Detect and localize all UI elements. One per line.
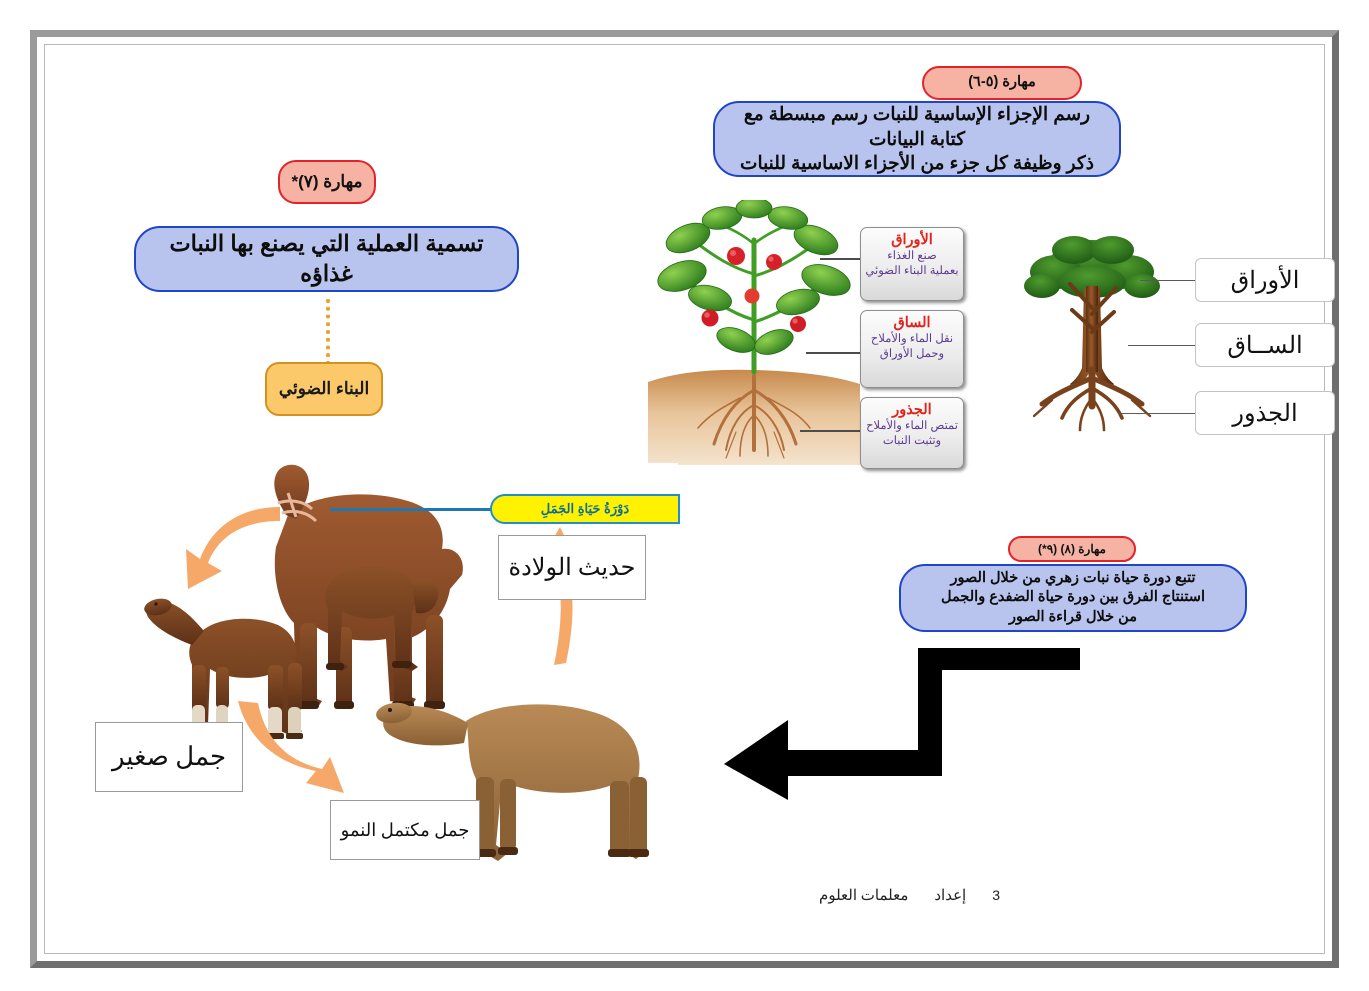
tree-leader-leaves xyxy=(1140,280,1196,281)
skill-8-9-line2: استنتاج الفرق بين دورة حياة الضفدع والجم… xyxy=(941,588,1205,608)
tree-label-stem: الســاق xyxy=(1195,323,1335,367)
skill-box-7: تسمية العملية التي يصنع بها النبات غذاؤه xyxy=(134,226,519,292)
skill-5-6-line1: رسم الإجزاء الإساسية للنبات رسم مبسطة مع… xyxy=(744,103,1090,149)
skill-box-8-9: تتبع دورة حياة نبات زهري من خلال الصور ا… xyxy=(899,564,1247,632)
footer-page-number: 3 xyxy=(992,887,1000,903)
tree-leader-stem xyxy=(1128,345,1196,346)
tree-label-leaves: الأوراق xyxy=(1195,258,1335,302)
dotted-connector-line xyxy=(326,299,330,365)
skill-tag-5-6: مهارة (٥-٦) xyxy=(922,66,1082,100)
camel-label-newborn: حديث الولادة xyxy=(498,535,646,600)
leader-line-roots xyxy=(800,430,862,432)
skill-8-9-line1: تتبع دورة حياة نبات زهري من خلال الصور xyxy=(950,569,1195,589)
plant-callout-stem: الساق نقل الماء والأملاح وحمل الأوراق xyxy=(860,310,964,388)
callout-roots-title: الجذور xyxy=(861,401,963,419)
worksheet-page: مهارة (٥-٦) رسم الإجزاء الإساسية للنبات … xyxy=(0,0,1369,991)
callout-leaves-title: الأوراق xyxy=(861,231,963,249)
tree-label-roots: الجذور xyxy=(1195,391,1335,435)
callout-roots-line1: تمتص الماء والأملاح xyxy=(861,419,963,434)
callout-leaves-line1: صنع الغذاء xyxy=(861,249,963,264)
callout-stem-line1: نقل الماء والأملاح xyxy=(861,332,963,347)
footer-authors: معلمات العلوم xyxy=(819,886,908,905)
tree-illustration xyxy=(1012,228,1172,438)
answer-box-photosynthesis: البناء الضوئي xyxy=(265,362,383,416)
black-step-arrow xyxy=(718,640,1080,800)
callout-leaves-line2: بعملية البناء الضوئي xyxy=(861,264,963,279)
tree-leader-roots xyxy=(1118,413,1196,414)
plant-callout-leaves: الأوراق صنع الغذاء بعملية البناء الضوئي xyxy=(860,227,964,301)
tomato-plant-illustration xyxy=(648,200,860,465)
callout-stem-title: الساق xyxy=(861,314,963,332)
leader-line-leaves xyxy=(820,258,862,260)
skill-tag-7: مهارة (٧)* xyxy=(278,160,376,204)
callout-roots-line2: وتثبت النبات xyxy=(861,434,963,449)
cycle-title-rule xyxy=(330,508,492,511)
footer-prepared-label: إعداد xyxy=(934,886,966,905)
skill-8-9-line3: من خلال قراءة الصور xyxy=(1009,608,1137,628)
skill-tag-8-9: مهارة (٨) (٩*) xyxy=(1008,536,1136,562)
camel-label-adult: جمل مكتمل النمو xyxy=(330,800,480,860)
leader-line-stem xyxy=(806,352,862,354)
callout-stem-line2: وحمل الأوراق xyxy=(861,347,963,362)
skill-box-5-6: رسم الإجزاء الإساسية للنبات رسم مبسطة مع… xyxy=(713,101,1121,177)
page-footer: 3 إعداد معلمات العلوم xyxy=(700,880,1180,910)
skill-5-6-line2: ذكر وظيفة كل جزء من الأجزاء الاساسية للن… xyxy=(740,152,1094,173)
camel-label-young: جمل صغير xyxy=(95,722,243,792)
cycle-title: دَوْرَةُ حَيَاةِ الجَمَلِ xyxy=(490,494,680,524)
plant-callout-roots: الجذور تمتص الماء والأملاح وتثبت النبات xyxy=(860,397,964,469)
